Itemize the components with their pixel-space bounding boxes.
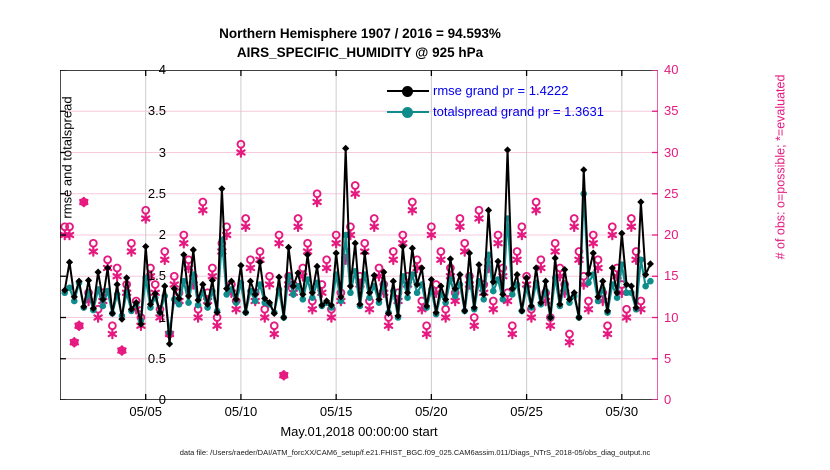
legend-entry-totalspread: totalspread grand pr = 1.3631: [385, 101, 604, 122]
y-tick-left-8: 4: [106, 62, 166, 77]
legend-label-totalspread: totalspread grand pr = 1.3631: [433, 101, 604, 122]
y-tick-right-2: 10: [664, 310, 704, 325]
x-tick-0: 05/05: [111, 404, 181, 419]
x-tick-4: 05/25: [492, 404, 562, 419]
y-tick-left-3: 1.5: [106, 268, 166, 283]
legend-label-rmse: rmse grand pr = 1.4222: [433, 80, 569, 101]
y-tick-right-0: 0: [664, 392, 704, 407]
x-tick-3: 05/20: [396, 404, 466, 419]
y-tick-left-5: 2.5: [106, 186, 166, 201]
y-tick-left-1: 0.5: [106, 351, 166, 366]
y-tick-right-7: 35: [664, 103, 704, 118]
x-tick-1: 05/10: [206, 404, 276, 419]
y-tick-right-1: 5: [664, 351, 704, 366]
figure-canvas: Northern Hemisphere 1907 / 2016 = 94.593…: [0, 0, 830, 470]
x-tick-2: 05/15: [301, 404, 371, 419]
y-tick-left-7: 3.5: [106, 103, 166, 118]
chart-title-line2: AIRS_SPECIFIC_HUMIDITY @ 925 hPa: [0, 43, 720, 62]
chart-legend: rmse grand pr = 1.4222 totalspread grand…: [385, 80, 604, 122]
y-tick-right-4: 20: [664, 227, 704, 242]
y-tick-right-3: 15: [664, 268, 704, 283]
chart-title: Northern Hemisphere 1907 / 2016 = 94.593…: [0, 24, 720, 62]
y-tick-right-5: 25: [664, 186, 704, 201]
y-tick-left-2: 1: [106, 310, 166, 325]
y-axis-left-label: rmse and totalspread: [60, 96, 75, 218]
x-axis-label: May.01,2018 00:00:00 start: [60, 424, 658, 439]
chart-title-line1: Northern Hemisphere 1907 / 2016 = 94.593…: [0, 24, 720, 43]
y-axis-right-label: # of obs: o=possible; *=evaluated: [773, 75, 787, 260]
x-tick-5: 05/30: [587, 404, 657, 419]
legend-entry-rmse: rmse grand pr = 1.4222: [385, 80, 604, 101]
y-tick-left-4: 2: [106, 227, 166, 242]
data-file-footer: data file: /Users/raeder/DAI/ATM_forcXX/…: [0, 448, 830, 457]
legend-marker-rmse: [385, 84, 431, 98]
y-tick-left-6: 3: [106, 145, 166, 160]
y-tick-right-6: 30: [664, 145, 704, 160]
legend-marker-totalspread: [385, 105, 431, 119]
y-tick-right-8: 40: [664, 62, 704, 77]
